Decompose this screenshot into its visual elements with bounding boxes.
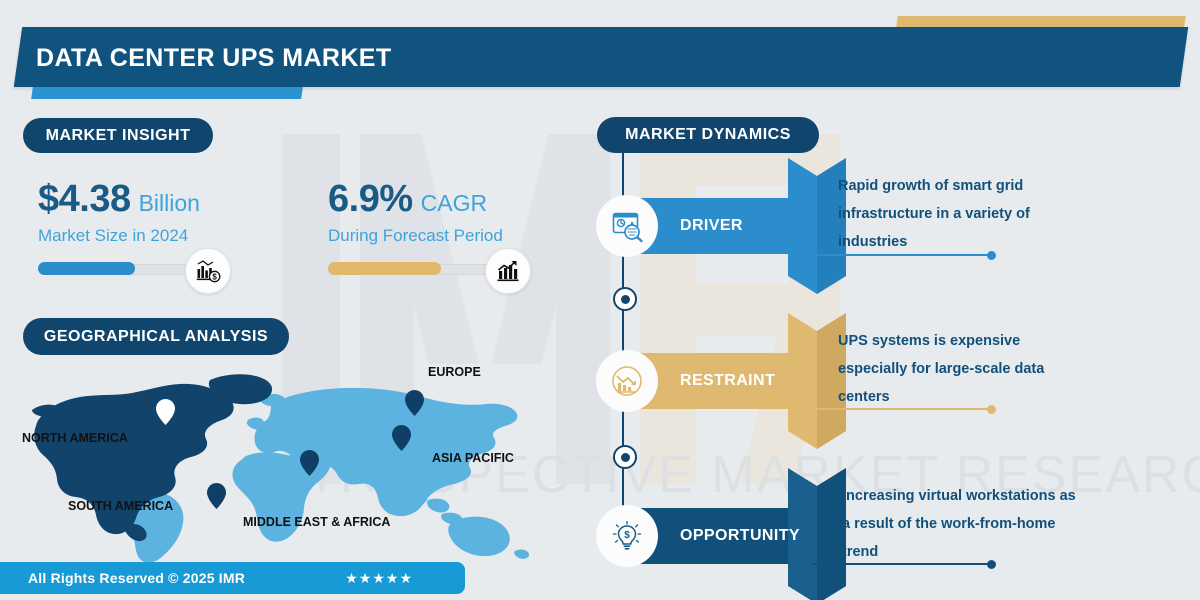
opportunity-description-line: a result of the work-from-home (842, 510, 1076, 538)
restraint-description-line: especially for large-scale data (838, 355, 1044, 383)
progress-fill (328, 262, 441, 275)
kpi-market-size-value: $4.38 (38, 178, 131, 220)
map-pin-middle-east-africa (300, 450, 319, 481)
map-label-asia-pacific: ASIA PACIFIC (432, 451, 514, 465)
driver-description-line: infrastructure in a variety of (838, 200, 1030, 228)
svg-text:$: $ (212, 272, 217, 281)
map-label-north-america: NORTH AMERICA (22, 431, 128, 445)
driver-description: Rapid growth of smart grid infrastructur… (838, 172, 1030, 256)
driver-description-line: industries (838, 228, 1030, 256)
map-label-middle-east-africa: MIDDLE EAST & AFRICA (243, 515, 390, 529)
restraint-underline (812, 408, 992, 410)
opportunity-label: OPPORTUNITY (680, 508, 800, 564)
dynamics-row-restraint: RESTRAINT (622, 353, 808, 409)
lightbulb-dollar-icon: $ (596, 505, 658, 567)
restraint-description-line: centers (838, 383, 1044, 411)
header-gold-strip (896, 16, 1186, 27)
map-label-europe: EUROPE (428, 365, 481, 379)
opportunity-description: Increasing virtual workstations as a res… (842, 482, 1076, 566)
driver-description-line: Rapid growth of smart grid (838, 172, 1030, 200)
map-pin-south-america (207, 483, 226, 514)
star-rating: ★★★★★ (345, 570, 413, 587)
timeline-node-2 (613, 445, 637, 469)
kpi-cagr: 6.9%CAGR During Forecast Period (328, 178, 506, 276)
map-pin-north-america (156, 399, 175, 430)
header-accent-bar (31, 87, 303, 99)
kpi-cagr-value: 6.9% (328, 178, 413, 220)
kpi-cagr-progress (328, 261, 506, 276)
growth-arrow-icon (485, 248, 531, 294)
footer-bar: All Rights Reserved © 2025 IMR ★★★★★ (0, 562, 465, 594)
map-pin-asia-pacific (392, 425, 411, 456)
market-insight-pill: MARKET INSIGHT (23, 118, 213, 153)
opportunity-underline (812, 563, 992, 565)
opportunity-description-line: Increasing virtual workstations as (842, 482, 1076, 510)
kpi-cagr-caption: During Forecast Period (328, 226, 506, 246)
progress-fill (38, 262, 135, 275)
dashboard-magnifier-icon (596, 195, 658, 257)
svg-text:$: $ (624, 530, 630, 541)
driver-underline (812, 254, 992, 256)
map-label-south-america: SOUTH AMERICA (68, 499, 173, 513)
dynamics-row-opportunity: $ OPPORTUNITY (622, 508, 808, 564)
map-pin-europe (405, 390, 424, 421)
timeline-node-1 (613, 287, 637, 311)
driver-label: DRIVER (680, 198, 743, 254)
opportunity-description-line: trend (842, 538, 1076, 566)
kpi-cagr-unit: CAGR (421, 190, 487, 216)
infographic-canvas: INTROSPECTIVE MARKET RESEARCH DATA CENTE… (0, 0, 1200, 600)
geographical-analysis-pill: GEOGRAPHICAL ANALYSIS (23, 318, 289, 355)
copyright-text: All Rights Reserved © 2025 IMR (28, 570, 245, 586)
restraint-description: UPS systems is expensive especially for … (838, 327, 1044, 411)
declining-chart-icon (596, 350, 658, 412)
dynamics-row-driver: DRIVER (622, 198, 808, 254)
restraint-label: RESTRAINT (680, 353, 775, 409)
market-dynamics-pill: MARKET DYNAMICS (597, 117, 819, 153)
kpi-market-size-caption: Market Size in 2024 (38, 226, 216, 246)
restraint-description-line: UPS systems is expensive (838, 327, 1044, 355)
page-title: DATA CENTER UPS MARKET (36, 40, 392, 76)
kpi-market-size-unit: Billion (139, 190, 200, 216)
bar-chart-dollar-icon: $ (185, 248, 231, 294)
